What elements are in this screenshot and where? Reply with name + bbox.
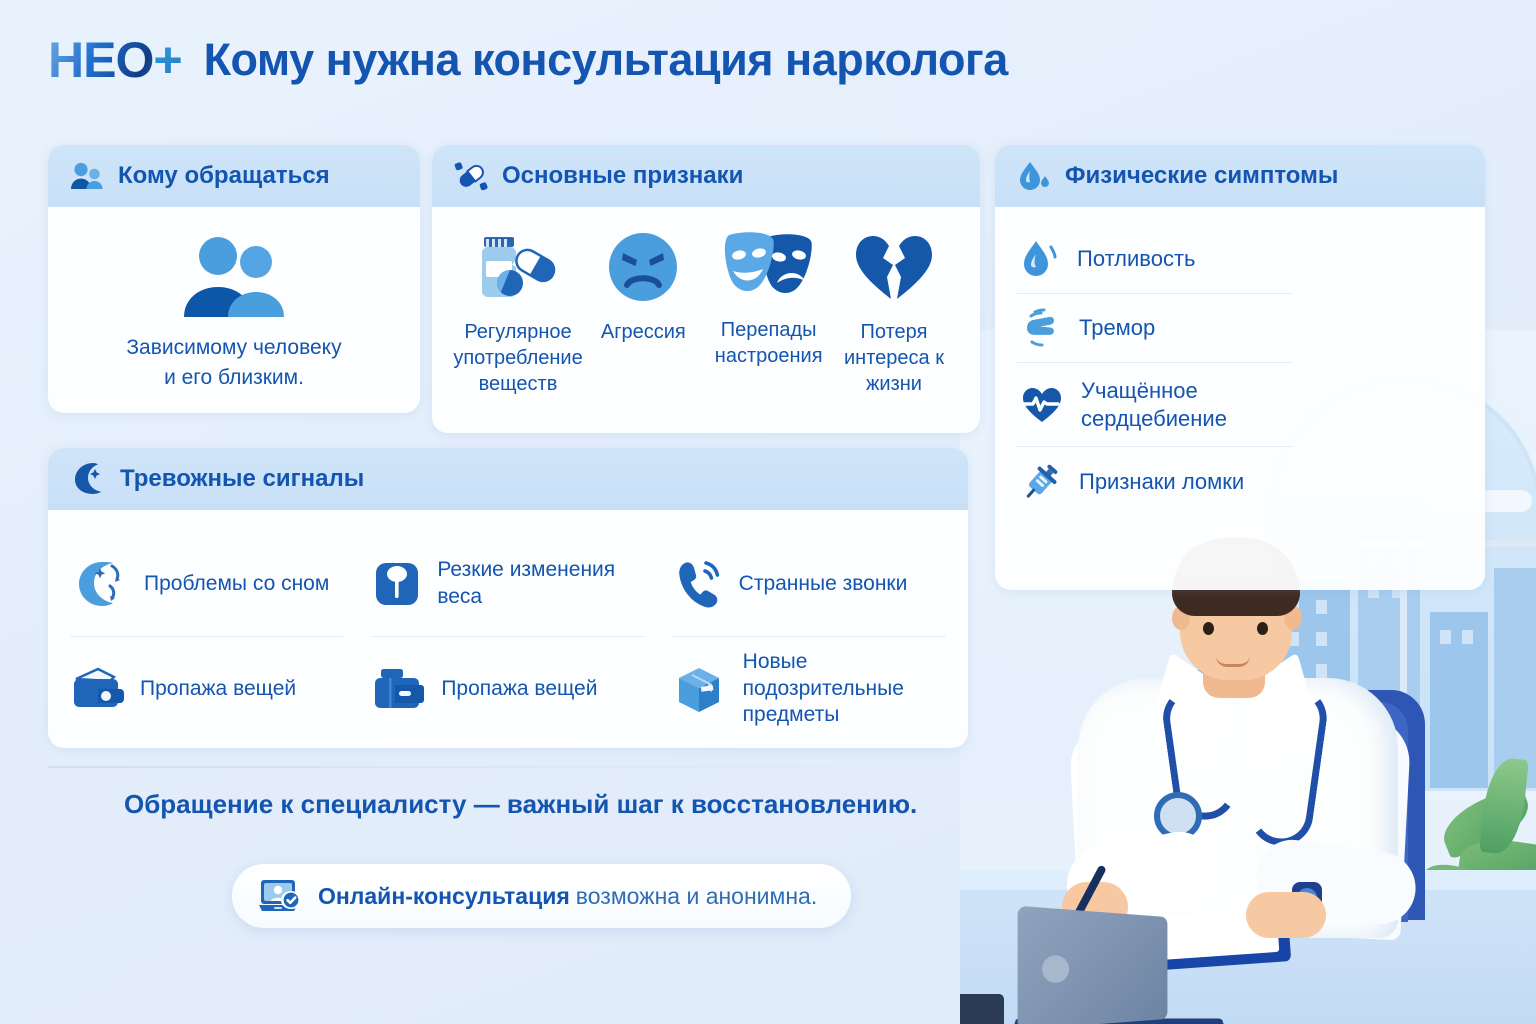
alarm-item: Резкие изменения веса: [371, 532, 644, 637]
wallet-icon: [373, 667, 425, 711]
physical-symptom-label: Тремор: [1079, 314, 1155, 342]
card-alarm-title: Тревожные сигналы: [120, 465, 364, 493]
physical-symptom-row: Учащённое сердцебиение: [1017, 363, 1293, 447]
physical-symptom-label: Потливость: [1077, 245, 1196, 273]
sign-item: Перепады настроения: [707, 231, 831, 369]
alarm-item: Пропажа вещей: [70, 637, 343, 741]
alarm-item: Новые подозрительные предметы: [673, 637, 946, 741]
physical-symptom-row: Потливость: [1017, 225, 1293, 294]
alarm-item-label: Проблемы со сном: [144, 571, 329, 598]
card-who-text: Зависимому человеку и его близким.: [126, 333, 341, 394]
sign-item: Агрессия: [581, 231, 705, 345]
laptop-check-icon: [258, 877, 304, 915]
infographic-canvas: НЕО+ Кому нужна консультация нарколога К…: [0, 0, 1536, 1024]
brand-logo-plus: +: [153, 32, 181, 88]
moon-icon: [70, 462, 106, 496]
sign-item-label: Потеря интереса к жизни: [832, 319, 956, 397]
alarm-item-label: Резкие изменения веса: [437, 557, 642, 611]
card-who-body: Зависимому человеку и его близким.: [48, 207, 420, 413]
alarm-item: Проблемы со сном: [70, 532, 343, 637]
card-who-header: Кому обращаться: [48, 145, 420, 207]
page-header: НЕО+ Кому нужна консультация нарколога: [48, 34, 1008, 86]
package-box-icon: [675, 664, 727, 714]
people-large-icon: [176, 237, 292, 317]
card-alarm-signals: Тревожные сигналы Проблемы: [48, 448, 968, 748]
alarm-item-label: Пропажа вещей: [140, 676, 296, 703]
card-signs-header: Основные признаки: [432, 145, 980, 207]
footer-divider: [48, 766, 918, 768]
badge-strong-text: Онлайн-консультация: [318, 883, 570, 909]
card-physical-header: Физические симптомы: [995, 145, 1485, 207]
phone-call-icon: [675, 559, 723, 609]
card-who-title: Кому обращаться: [118, 162, 330, 190]
physical-symptom-row: Тремор: [1017, 294, 1293, 363]
heart-pulse-icon: [1021, 386, 1063, 424]
alarm-item: Пропажа вещей: [371, 637, 644, 741]
card-physical-symptoms: Физические симптомы Потливость: [995, 145, 1485, 590]
alarm-item-label: Странные звонки: [739, 571, 908, 598]
water-drop-icon: [1017, 160, 1051, 192]
physical-symptom-row: Признаки ломки: [1017, 447, 1293, 517]
online-consultation-badge[interactable]: Онлайн-консультациявозможна и анонимна.: [232, 864, 851, 928]
card-physical-body: Потливость Тремор: [995, 207, 1485, 537]
card-signs-body: Регулярное употребление веществ Агрессия: [432, 207, 980, 417]
card-physical-title: Физические симптомы: [1065, 162, 1338, 190]
pill-bottle-icon: [470, 231, 566, 303]
sign-item: Регулярное употребление веществ: [456, 231, 580, 397]
card-alarm-header: Тревожные сигналы: [48, 448, 968, 510]
card-main-signs: Основные признаки: [432, 145, 980, 433]
card-who-text-line1: Зависимому человеку: [126, 333, 341, 363]
physical-symptom-label: Учащённое сердцебиение: [1081, 377, 1289, 432]
trembling-hand-icon: [1021, 308, 1061, 348]
footer-note: Обращение к специалисту — важный шаг к в…: [124, 789, 917, 820]
alarm-item-label: Пропажа вещей: [441, 676, 597, 703]
card-signs-title: Основные признаки: [502, 162, 743, 190]
pills-icon: [454, 160, 488, 192]
sign-item: Потеря интереса к жизни: [832, 231, 956, 397]
brand-logo: НЕО+: [48, 35, 182, 85]
card-who-to-contact: Кому обращаться Зависимому человеку и ег…: [48, 145, 420, 413]
card-who-text-line2: и его близким.: [126, 363, 341, 393]
card-alarm-body: Проблемы со сном Резкие изменения веса: [48, 510, 968, 748]
drop-icon: [1021, 239, 1059, 279]
physical-symptom-label: Признаки ломки: [1079, 468, 1244, 496]
angry-face-icon: [607, 231, 679, 303]
page-title: Кому нужна консультация нарколога: [204, 34, 1008, 86]
wallet-icon: [72, 667, 124, 711]
sign-item-label: Перепады настроения: [707, 317, 831, 369]
alarm-item-label: Новые подозрительные предметы: [743, 649, 944, 730]
broken-heart-icon: [852, 231, 936, 303]
badge-rest-text: возможна и анонимна.: [576, 883, 817, 909]
brand-logo-text: НЕО: [48, 32, 153, 88]
sign-item-label: Регулярное употребление веществ: [453, 319, 582, 397]
moon-sleep-icon: [72, 558, 128, 610]
sign-item-label: Агрессия: [601, 319, 686, 345]
weight-scale-icon: [373, 560, 421, 608]
people-icon: [70, 162, 104, 190]
theatre-masks-icon: [721, 231, 817, 301]
alarm-item: Странные звонки: [673, 532, 946, 637]
syringe-icon: [1021, 461, 1061, 503]
